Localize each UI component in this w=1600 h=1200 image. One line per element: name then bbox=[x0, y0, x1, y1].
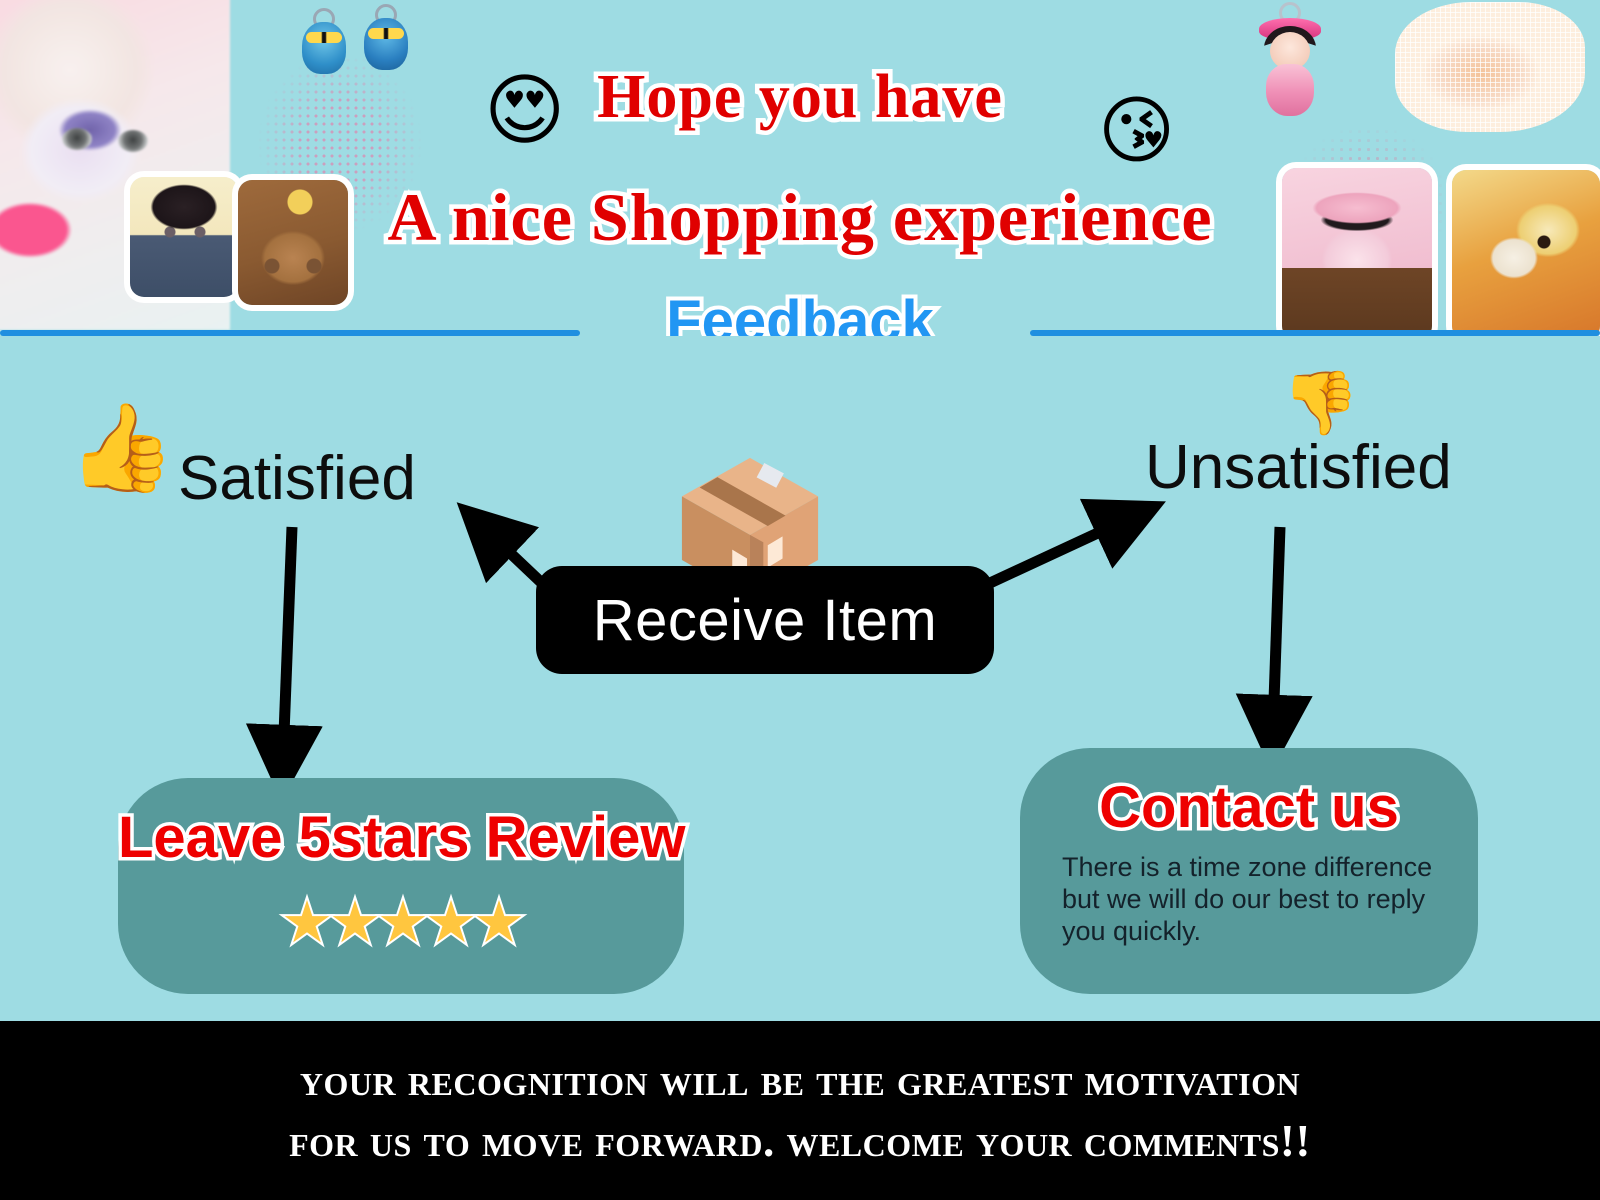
leave-review-title: Leave 5stars Review bbox=[118, 804, 684, 871]
keychain-sunglasses bbox=[368, 28, 404, 39]
arrow-to-contact-panel bbox=[1273, 527, 1280, 730]
headline-line-1: Hope you have bbox=[0, 62, 1600, 133]
banner-line-2: for us to move forward. Welcome your com… bbox=[289, 1111, 1311, 1172]
leave-review-panel[interactable]: Leave 5stars Review ★★★★★ bbox=[118, 778, 684, 994]
headline-line-2: A nice Shopping experience bbox=[0, 178, 1600, 257]
section-title-feedback: Feedback bbox=[0, 288, 1600, 336]
contact-us-panel[interactable]: Contact us There is a time zone differen… bbox=[1020, 748, 1478, 994]
feedback-infographic: Hope you have A nice Shopping experience… bbox=[0, 0, 1600, 1200]
receive-item-node: Receive Item bbox=[536, 566, 994, 674]
plush-eye-right-decor bbox=[118, 130, 148, 152]
header-band: Hope you have A nice Shopping experience… bbox=[0, 0, 1600, 336]
kissing-face-emoji-icon: 😘 bbox=[1098, 94, 1175, 168]
arrow-to-unsatisfied bbox=[990, 519, 1128, 583]
keychain-sunglasses bbox=[306, 32, 342, 43]
label-unsatisfied: Unsatisfied bbox=[1145, 432, 1452, 503]
bottom-banner: Your recognition will be the greatest mo… bbox=[0, 1021, 1600, 1200]
heart-eyes-emoji-icon: 😍 bbox=[484, 72, 565, 150]
arrow-to-satisfied bbox=[487, 531, 545, 586]
contact-us-title: Contact us bbox=[1020, 774, 1478, 841]
label-satisfied: Satisfied bbox=[178, 443, 416, 514]
thumbs-up-icon: 👍 bbox=[68, 405, 175, 491]
contact-us-note: There is a time zone difference but we w… bbox=[1062, 852, 1444, 948]
arrow-to-review-panel bbox=[283, 527, 292, 760]
five-star-rating-icon[interactable]: ★★★★★ bbox=[118, 888, 684, 956]
receive-item-label: Receive Item bbox=[593, 587, 937, 654]
banner-line-1: Your recognition will be the greatest mo… bbox=[300, 1050, 1300, 1111]
thumbs-down-icon: 👎 bbox=[1282, 372, 1359, 434]
